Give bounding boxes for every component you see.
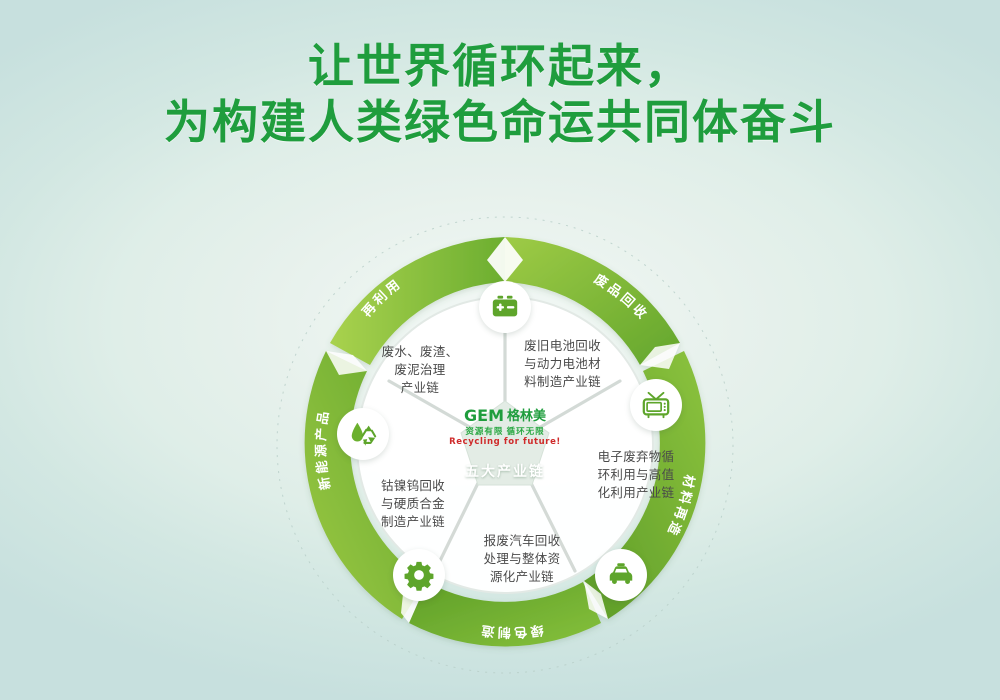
gem-wordmark: GEM bbox=[464, 408, 504, 424]
tv-icon-bubble[interactable] bbox=[630, 379, 682, 431]
page-title: 让世界循环起来， 为构建人类绿色命运共同体奋斗 bbox=[0, 38, 1000, 150]
gear-icon bbox=[404, 560, 434, 590]
gem-slogan-en: Recycling for future! bbox=[438, 437, 572, 447]
gem-logo: GEM 格林美 资源有限 循环无限 Recycling for future! bbox=[438, 408, 572, 447]
title-line-2: 为构建人类绿色命运共同体奋斗 bbox=[0, 94, 1000, 150]
segment-wastewater-line2: 废泥治理 bbox=[370, 361, 470, 379]
title-line-1: 让世界循环起来， bbox=[0, 38, 1000, 94]
segment-battery-line2: 与动力电池材 bbox=[510, 355, 615, 373]
center-hub: GEM 格林美 资源有限 循环无限 Recycling for future! … bbox=[438, 390, 572, 508]
segment-ewaste-line1: 电子废弃物循 bbox=[590, 448, 682, 466]
gem-slogan-cn: 资源有限 循环无限 bbox=[438, 426, 572, 436]
battery-icon-bubble[interactable] bbox=[479, 281, 531, 333]
gem-chinese-name: 格林美 bbox=[507, 408, 546, 424]
segment-label-scrap-car: 报废汽车回收 处理与整体资 源化产业链 bbox=[471, 532, 573, 586]
segment-car-line2: 处理与整体资 bbox=[471, 550, 573, 568]
gear-icon-bubble[interactable] bbox=[393, 549, 445, 601]
segment-metal-line3: 制造产业链 bbox=[363, 513, 463, 531]
car-icon-bubble[interactable] bbox=[595, 549, 647, 601]
poster-canvas: 让世界循环起来， 为构建人类绿色命运共同体奋斗 bbox=[0, 0, 1000, 700]
segment-battery-line1: 废旧电池回收 bbox=[510, 337, 615, 355]
battery-icon bbox=[490, 292, 520, 322]
water-recycle-icon bbox=[348, 419, 378, 449]
tv-icon bbox=[641, 390, 671, 420]
segment-label-battery: 废旧电池回收 与动力电池材 料制造产业链 bbox=[510, 337, 615, 391]
center-caption: 五大产业链 bbox=[438, 461, 572, 481]
segment-ewaste-line3: 化利用产业链 bbox=[590, 484, 682, 502]
water-recycle-icon-bubble[interactable] bbox=[337, 408, 389, 460]
car-icon bbox=[606, 560, 636, 590]
segment-car-line1: 报废汽车回收 bbox=[471, 532, 573, 550]
segment-label-ewaste: 电子废弃物循 环利用与高值 化利用产业链 bbox=[590, 448, 682, 502]
circular-industry-chain-diagram: 废品回收 材料再造 绿色制造 新能源产品 再利用 bbox=[275, 215, 735, 675]
segment-wastewater-line1: 废水、废渣、 bbox=[370, 343, 470, 361]
segment-car-line3: 源化产业链 bbox=[471, 568, 573, 586]
segment-ewaste-line2: 环利用与高值 bbox=[590, 466, 682, 484]
segment-battery-line3: 料制造产业链 bbox=[510, 373, 615, 391]
